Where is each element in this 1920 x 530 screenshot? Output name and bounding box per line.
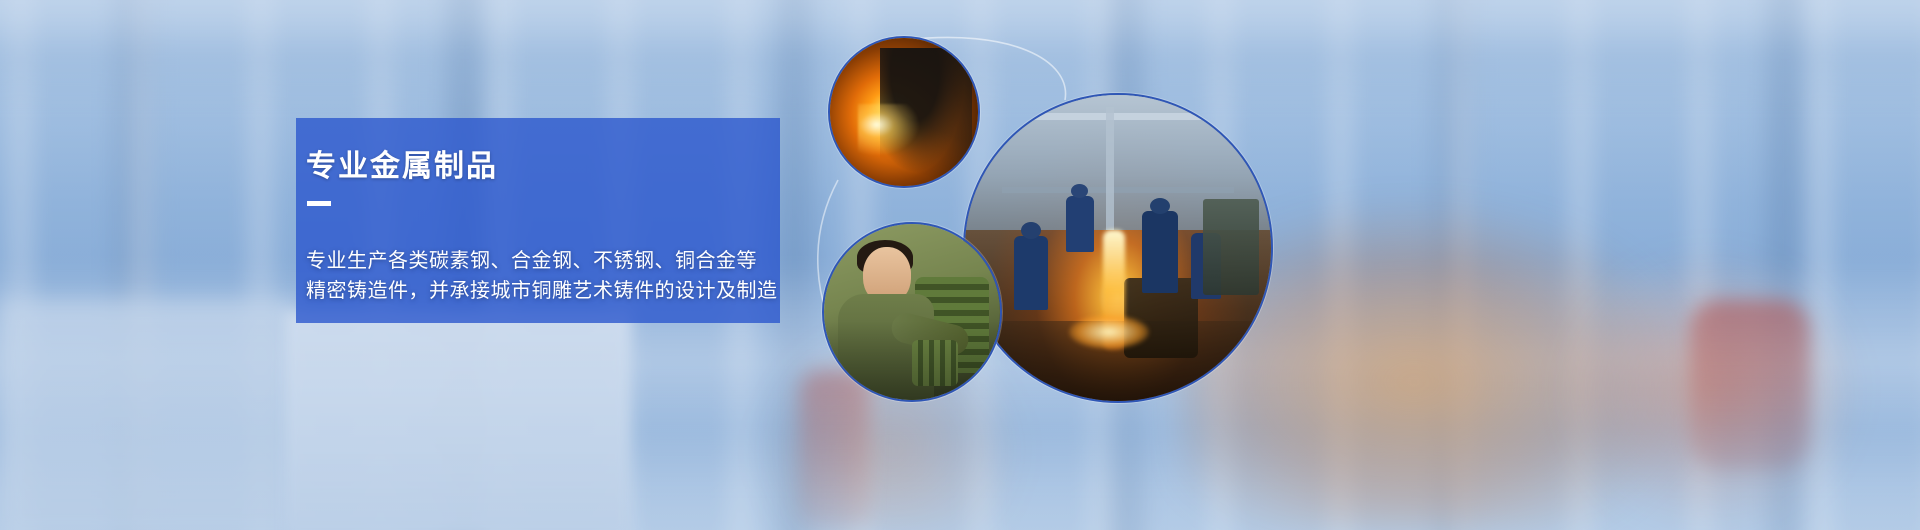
promo-banner: 专业金属制品 专业生产各类碳素钢、合金钢、不锈钢、铜合金等 精密铸造件，并承接城… xyxy=(0,0,1920,530)
foundry-worker-3 xyxy=(1142,211,1178,293)
description-text: 专业生产各类碳素钢、合金钢、不锈钢、铜合金等 精密铸造件，并承接城市铜雕艺术铸件… xyxy=(306,246,778,306)
foundry-post xyxy=(1106,107,1114,229)
molten-metal-pool xyxy=(1069,315,1149,349)
foundry-machine xyxy=(1203,199,1259,295)
title-divider xyxy=(307,201,331,206)
foundry-beam-upper xyxy=(1020,113,1216,120)
page-title: 专业金属制品 xyxy=(306,141,498,185)
foundry-worker-1 xyxy=(1014,236,1048,310)
description-line-2: 精密铸造件，并承接城市铜雕艺术铸件的设计及制造 xyxy=(306,276,778,306)
foundry-beam-lower xyxy=(1002,187,1235,193)
text-panel: 专业金属制品 专业生产各类碳素钢、合金钢、不锈钢、铜合金等 精密铸造件，并承接城… xyxy=(296,118,996,323)
foundry-pouring-photo xyxy=(963,93,1273,403)
description-line-1: 专业生产各类碳素钢、合金钢、不锈钢、铜合金等 xyxy=(306,246,778,276)
foundry-worker-2 xyxy=(1066,196,1094,252)
